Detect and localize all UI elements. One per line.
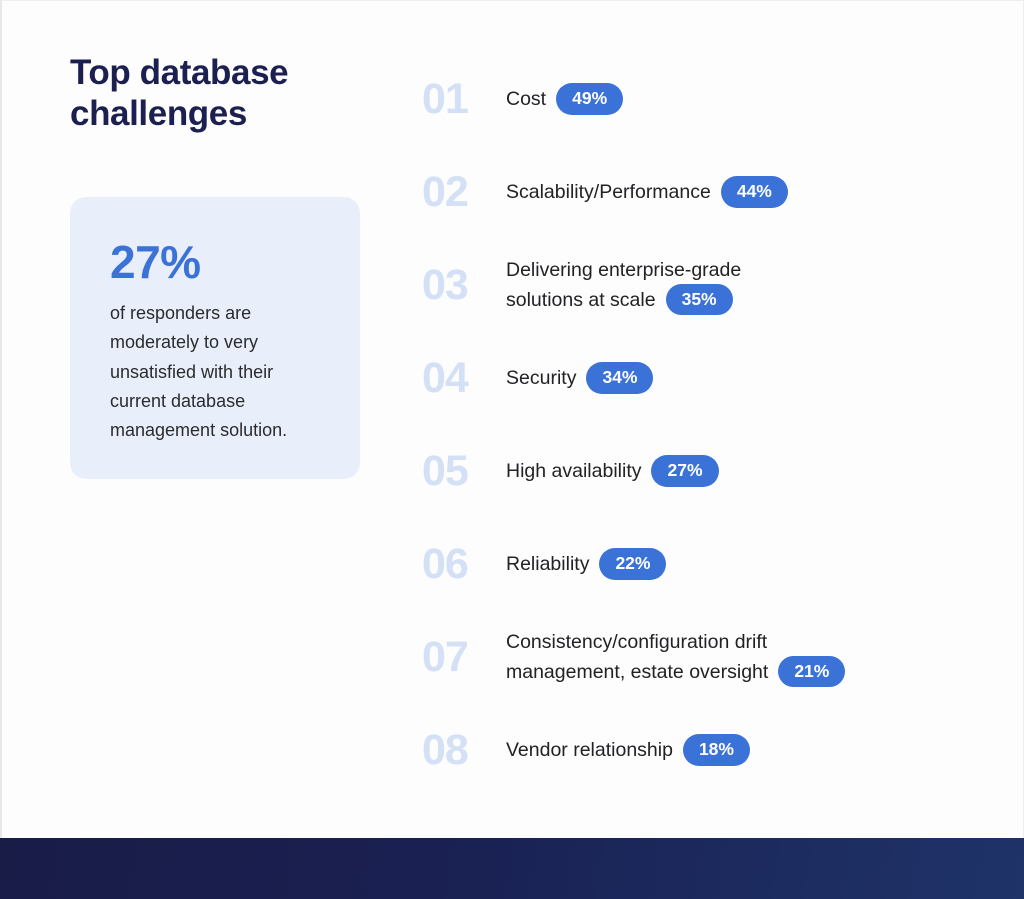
rank-number: 02 [422,171,506,214]
challenge-label: Cost [506,88,546,110]
percentage-badge: 49% [556,83,623,114]
percentage-badge: 44% [721,176,788,207]
rank-number: 03 [422,264,506,307]
highlight-stat-description: of responders are moderately to very uns… [110,299,325,446]
infographic-canvas: Top database challenges 27% of responder… [0,0,1024,838]
rank-number: 01 [422,78,506,121]
list-item: 08 Vendor relationship18% [422,704,982,797]
footer-bar [0,838,1024,899]
highlight-stat-value: 27% [110,239,325,285]
percentage-badge: 27% [651,455,718,486]
list-item: 03 Delivering enterprise-grade solutions… [422,239,982,332]
challenge-body: Reliability22% [506,548,666,580]
challenge-body: Cost49% [506,83,623,115]
list-item: 02 Scalability/Performance44% [422,146,982,239]
challenge-body: Scalability/Performance44% [506,176,788,208]
left-column: Top database challenges [70,53,370,135]
challenge-body: Vendor relationship18% [506,734,750,766]
list-item: 01 Cost49% [422,53,982,146]
challenge-body: Consistency/configuration drift manageme… [506,627,845,688]
percentage-badge: 34% [586,362,653,393]
challenge-label: Security [506,367,576,389]
challenge-label: High availability [506,460,641,482]
list-item: 05 High availability27% [422,425,982,518]
challenge-body: Security34% [506,362,653,394]
list-item: 07 Consistency/configuration drift manag… [422,611,982,704]
rank-number: 08 [422,729,506,772]
rank-number: 04 [422,357,506,400]
challenge-label: Vendor relationship [506,739,673,761]
percentage-badge: 35% [666,284,733,315]
challenge-label: Consistency/configuration drift manageme… [506,631,768,682]
page-title: Top database challenges [70,53,340,135]
challenge-label: Reliability [506,553,589,575]
percentage-badge: 21% [778,656,845,687]
rank-number: 05 [422,450,506,493]
rank-number: 06 [422,543,506,586]
challenges-list: 01 Cost49% 02 Scalability/Performance44%… [422,53,982,797]
challenge-body: High availability27% [506,455,719,487]
percentage-badge: 18% [683,734,750,765]
rank-number: 07 [422,636,506,679]
percentage-badge: 22% [599,548,666,579]
list-item: 04 Security34% [422,332,982,425]
challenge-label: Scalability/Performance [506,181,711,203]
highlight-stat-card: 27% of responders are moderately to very… [70,197,360,479]
challenge-body: Delivering enterprise-grade solutions at… [506,255,741,316]
list-item: 06 Reliability22% [422,518,982,611]
highlight-stat-content: 27% of responders are moderately to very… [110,239,325,446]
